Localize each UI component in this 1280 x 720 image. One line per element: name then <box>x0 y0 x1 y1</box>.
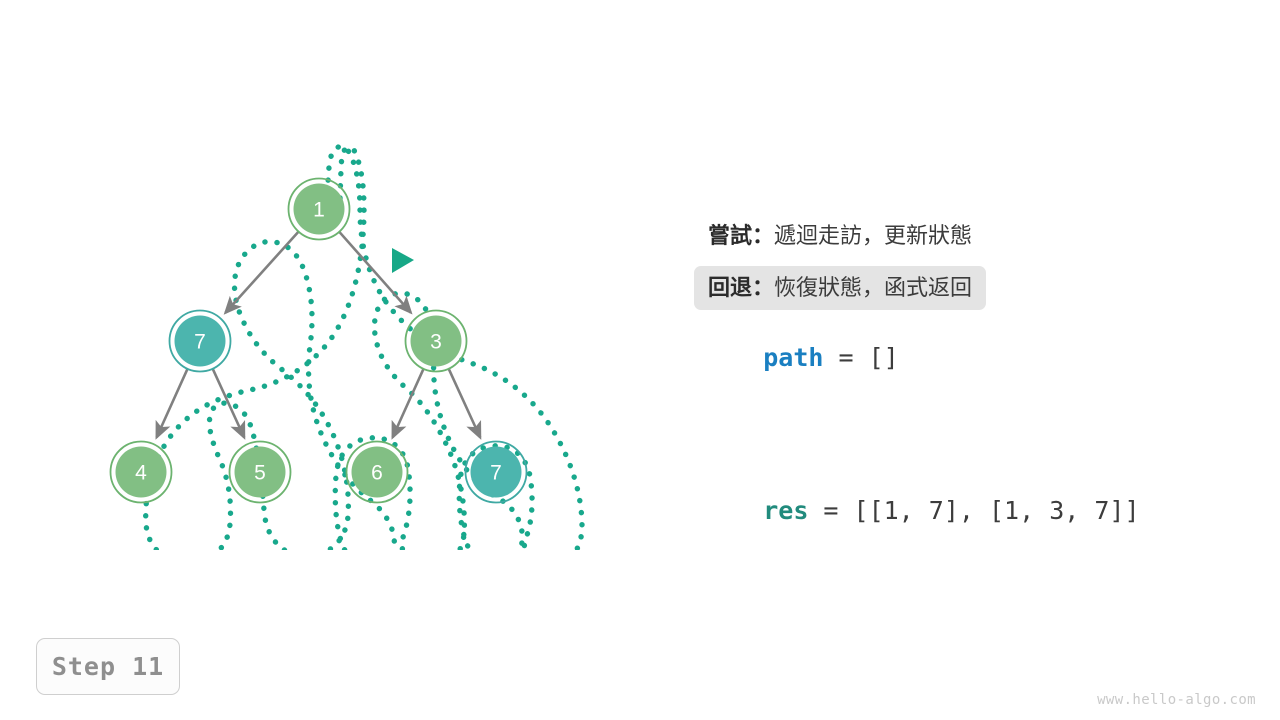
tree-node-3: 3 <box>406 311 467 372</box>
tree-node-1: 1 <box>289 179 350 240</box>
node-label: 4 <box>135 462 147 485</box>
annotation-line-backtrack: 回退： 恢復狀態，函式返回 <box>694 266 986 310</box>
traversal-cursor-arrow <box>392 248 414 273</box>
annotation-key-backtrack: 回退： <box>708 277 774 299</box>
tree-node-5: 5 <box>230 442 291 503</box>
node-label: 6 <box>371 462 383 485</box>
variable-name-res: res <box>763 496 808 525</box>
tree-node-7: 7 <box>170 311 231 372</box>
variable-name-path: path <box>763 343 823 372</box>
watermark: www.hello-algo.com <box>1097 692 1256 708</box>
tree-edge <box>213 369 244 437</box>
annotation-line-try: 嘗試： 遞迴走訪，更新狀態 <box>694 214 986 258</box>
node-label: 3 <box>430 331 442 354</box>
tree-svg: 1734567 <box>60 110 600 550</box>
node-label: 1 <box>313 199 325 222</box>
annotation-panel: 嘗試： 遞迴走訪，更新狀態 回退： 恢復狀態，函式返回 path = [] re… <box>694 214 1214 548</box>
step-badge: Step 11 <box>36 638 180 695</box>
tree-edge <box>157 369 188 437</box>
tree-node-7: 7 <box>466 442 527 503</box>
annotation-text-try: 遞迴走訪，更新狀態 <box>774 225 972 247</box>
tree-edge <box>449 369 480 437</box>
step-badge-label: Step 11 <box>52 652 164 681</box>
tree-node-6: 6 <box>347 442 408 503</box>
node-label: 7 <box>194 331 206 354</box>
tree-node-4: 4 <box>111 442 172 503</box>
annotation-key-try: 嘗試： <box>708 225 774 247</box>
state-line-path: path = [] <box>694 320 1214 395</box>
state-line-res: res = [[1, 7], [1, 3, 7]] <box>694 473 1214 548</box>
tree-nodes: 1734567 <box>111 179 527 503</box>
variable-value-path: = [] <box>823 343 898 372</box>
variable-value-res: = [[1, 7], [1, 3, 7]] <box>808 496 1139 525</box>
annotation-text-backtrack: 恢復狀態，函式返回 <box>774 277 972 299</box>
binary-tree-figure: 1734567 <box>60 110 600 550</box>
node-label: 7 <box>490 462 502 485</box>
tree-edge <box>225 232 298 313</box>
node-label: 5 <box>254 462 266 485</box>
tree-edge <box>340 232 411 312</box>
